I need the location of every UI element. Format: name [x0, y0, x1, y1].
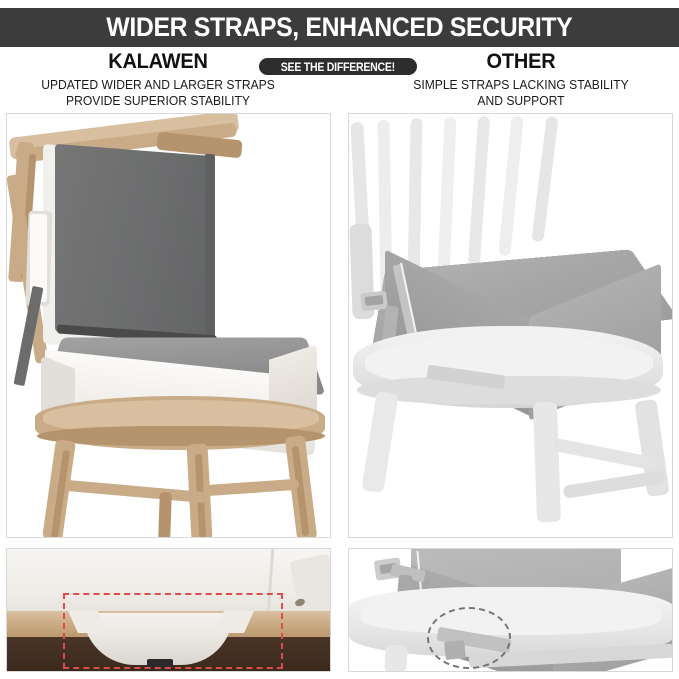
tagline-kalawen-line2: PROVIDE SUPERIOR STABILITY	[19, 93, 298, 109]
photo-panel-kalawen-strap-detail	[6, 548, 331, 672]
see-the-difference-badge: SEE THE DIFFERENCE!	[258, 57, 418, 76]
photo-kalawen-chair-cushion	[7, 114, 330, 537]
photo-wide-white-strap-closeup	[7, 549, 330, 671]
brand-label-other: OTHER	[379, 50, 664, 74]
tagline-kalawen: UPDATED WIDER AND LARGER STRAPS PROVIDE …	[19, 77, 298, 108]
tagline-other: SIMPLE STRAPS LACKING STABILITY AND SUPP…	[382, 77, 661, 108]
photo-panel-other-strap-detail	[348, 548, 673, 672]
photo-narrow-grey-strap-closeup	[349, 549, 672, 671]
badge-label: SEE THE DIFFERENCE!	[281, 60, 395, 74]
header-banner: WIDER STRAPS, ENHANCED SECURITY	[0, 8, 679, 47]
photo-panel-kalawen-main	[6, 113, 331, 538]
tagline-other-line1: SIMPLE STRAPS LACKING STABILITY	[382, 77, 661, 93]
highlight-ellipse	[427, 607, 511, 669]
highlight-rectangle	[63, 593, 283, 669]
tagline-other-line2: AND SUPPORT	[382, 93, 661, 109]
photo-other-chair-cushion	[349, 114, 672, 537]
infographic-page: WIDER STRAPS, ENHANCED SECURITY KALAWEN …	[0, 0, 679, 679]
column-heading-other: OTHER SIMPLE STRAPS LACKING STABILITY AN…	[371, 50, 671, 108]
banner-title: WIDER STRAPS, ENHANCED SECURITY	[106, 12, 572, 43]
photo-panel-other-main	[348, 113, 673, 538]
tagline-kalawen-line1: UPDATED WIDER AND LARGER STRAPS	[19, 77, 298, 93]
